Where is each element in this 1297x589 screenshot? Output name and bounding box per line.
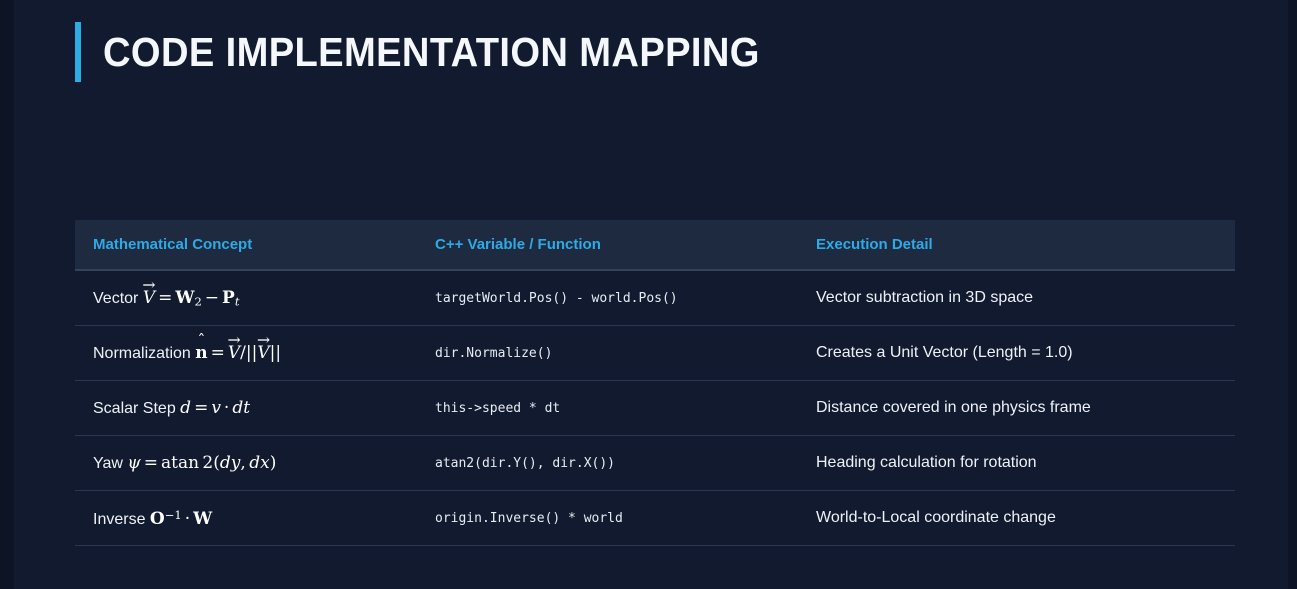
table-row: Normalization nˆ=V→/||V→|| dir.Normalize…: [75, 326, 1235, 381]
code-snippet: dir.Normalize(): [435, 346, 552, 361]
execution-detail: World-to-Local coordinate change: [816, 509, 1056, 526]
concept-label: Scalar Step d=v·dt: [93, 400, 250, 417]
table-header-row: Mathematical Concept C++ Variable / Func…: [75, 220, 1235, 271]
code-snippet: targetWorld.Pos() - world.Pos(): [435, 291, 678, 306]
slide-right-edge-strip: [1288, 0, 1297, 589]
column-header-cpp-variable-function: C++ Variable / Function: [435, 236, 601, 253]
concept-formula: ψ=atan 2(dy, dx): [127, 453, 276, 473]
column-header-mathematical-concept: Mathematical Concept: [93, 236, 252, 253]
execution-detail: Distance covered in one physics frame: [816, 399, 1091, 416]
execution-detail: Vector subtraction in 3D space: [816, 289, 1033, 306]
slide-left-edge-strip: [0, 0, 14, 589]
concept-formula: d=v·dt: [180, 398, 250, 418]
concept-label: Inverse O−1·W: [93, 511, 212, 528]
code-snippet: origin.Inverse() * world: [435, 511, 623, 526]
title-accent-bar: [75, 22, 81, 82]
table-row: Scalar Step d=v·dt this->speed * dt Dist…: [75, 381, 1235, 436]
execution-detail: Creates a Unit Vector (Length = 1.0): [816, 344, 1073, 361]
concept-formula: V→=W2−Pt: [143, 288, 240, 308]
concept-label: Vector V→=W2−Pt: [93, 290, 239, 307]
slide: CODE IMPLEMENTATION MAPPING Mathematical…: [0, 0, 1297, 589]
slide-title-block: CODE IMPLEMENTATION MAPPING: [75, 22, 809, 82]
concept-formula: O−1·W: [150, 509, 212, 529]
page-title: CODE IMPLEMENTATION MAPPING: [103, 32, 760, 73]
concept-label: Normalization nˆ=V→/||V→||: [93, 345, 281, 362]
concept-label: Yaw ψ=atan 2(dy, dx): [93, 455, 276, 472]
table-row: Vector V→=W2−Pt targetWorld.Pos() - worl…: [75, 271, 1235, 326]
execution-detail: Heading calculation for rotation: [816, 454, 1037, 471]
code-snippet: atan2(dir.Y(), dir.X()): [435, 456, 615, 471]
table-row: Yaw ψ=atan 2(dy, dx) atan2(dir.Y(), dir.…: [75, 436, 1235, 491]
code-snippet: this->speed * dt: [435, 401, 560, 416]
concept-formula: nˆ=V→/||V→||: [195, 343, 281, 363]
column-header-execution-detail: Execution Detail: [816, 236, 933, 253]
table-row: Inverse O−1·W origin.Inverse() * world W…: [75, 491, 1235, 546]
code-implementation-mapping-table: Mathematical Concept C++ Variable / Func…: [75, 220, 1235, 546]
